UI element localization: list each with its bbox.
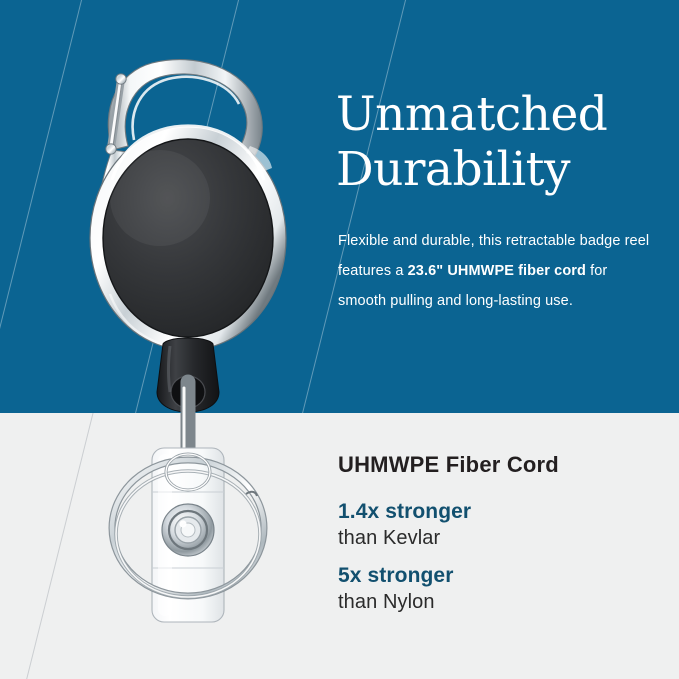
- headline-line-1: Unmatched: [336, 88, 666, 143]
- cord-heading: UHMWPE Fiber Cord: [338, 452, 559, 478]
- stat-nylon: 5x stronger than Nylon: [338, 563, 638, 615]
- metal-snap-button: [162, 504, 214, 556]
- stat-nylon-comparison: than Nylon: [338, 589, 638, 615]
- headline-line-2: Durability: [336, 143, 666, 198]
- body-copy: Flexible and durable, this retractable b…: [338, 226, 658, 316]
- headline: Unmatched Durability: [336, 88, 666, 197]
- graphic-canvas: Unmatched Durability Flexible and durabl…: [0, 0, 679, 679]
- stat-kevlar-comparison: than Kevlar: [338, 525, 638, 551]
- product-image: [0, 0, 340, 679]
- stat-kevlar-value: 1.4x stronger: [338, 499, 638, 525]
- stat-nylon-value: 5x stronger: [338, 563, 638, 589]
- body-copy-highlight: 23.6" UHMWPE fiber cord: [408, 263, 586, 279]
- stat-kevlar: 1.4x stronger than Kevlar: [338, 499, 638, 551]
- oval-reel-body: [90, 126, 286, 350]
